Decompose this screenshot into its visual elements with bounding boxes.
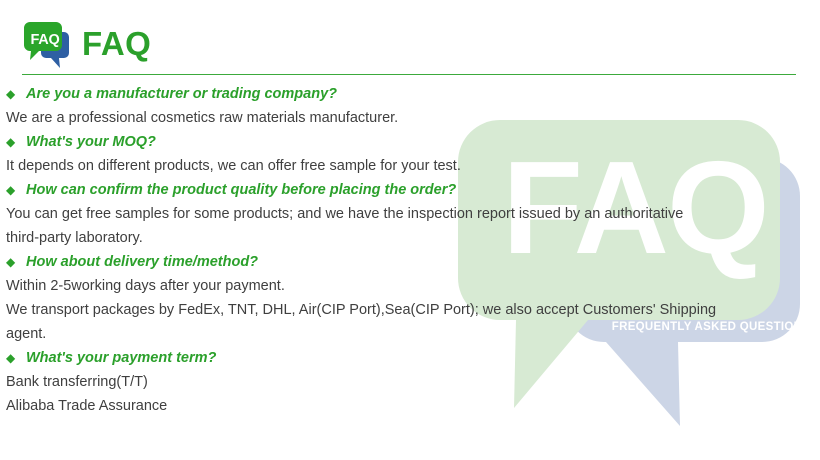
faq-answer-line: We are a professional cosmetics raw mate… (0, 106, 820, 130)
diamond-bullet-icon: ◆ (6, 250, 15, 274)
faq-answer-line: We transport packages by FedEx, TNT, DHL… (0, 298, 820, 322)
faq-item: ◆ How can confirm the product quality be… (0, 178, 820, 250)
faq-question[interactable]: ◆ What's your MOQ? (0, 130, 820, 154)
faq-answer-line: It depends on different products, we can… (0, 154, 820, 178)
faq-question-text: How can confirm the product quality befo… (26, 182, 456, 198)
faq-list: ◆ Are you a manufacturer or trading comp… (0, 82, 820, 418)
diamond-bullet-icon: ◆ (6, 130, 15, 154)
diamond-bullet-icon: ◆ (6, 82, 15, 106)
faq-item: ◆ What's your payment term? Bank transfe… (0, 346, 820, 418)
faq-question[interactable]: ◆ Are you a manufacturer or trading comp… (0, 82, 820, 106)
faq-question-text: What's your MOQ? (26, 134, 156, 150)
logo-faq-text: FAQ (31, 32, 60, 48)
faq-item: ◆ Are you a manufacturer or trading comp… (0, 82, 820, 130)
faq-question-text: How about delivery time/method? (26, 254, 258, 270)
faq-question-text: What's your payment term? (26, 350, 216, 366)
faq-answer-line: third-party laboratory. (0, 226, 820, 250)
page-title: FAQ (82, 22, 151, 66)
faq-item: ◆ How about delivery time/method? Within… (0, 250, 820, 346)
faq-answer-line: Bank transferring(T/T) (0, 370, 820, 394)
faq-question[interactable]: ◆ What's your payment term? (0, 346, 820, 370)
faq-page: FAQ FREQUENTLY ASKED QUESTIONS FAQ FAQ ◆… (0, 0, 820, 460)
faq-speech-bubble-icon: FAQ (22, 20, 72, 68)
faq-answer-line: agent. (0, 322, 820, 346)
faq-item: ◆ What's your MOQ? It depends on differe… (0, 130, 820, 178)
faq-answer-line: Alibaba Trade Assurance (0, 394, 820, 418)
faq-answer-line: You can get free samples for some produc… (0, 202, 820, 226)
diamond-bullet-icon: ◆ (6, 178, 15, 202)
faq-answer-line: Within 2-5working days after your paymen… (0, 274, 820, 298)
faq-question[interactable]: ◆ How can confirm the product quality be… (0, 178, 820, 202)
faq-question[interactable]: ◆ How about delivery time/method? (0, 250, 820, 274)
header-divider (22, 74, 796, 75)
faq-question-text: Are you a manufacturer or trading compan… (26, 86, 337, 102)
page-header: FAQ FAQ (0, 0, 820, 78)
diamond-bullet-icon: ◆ (6, 346, 15, 370)
